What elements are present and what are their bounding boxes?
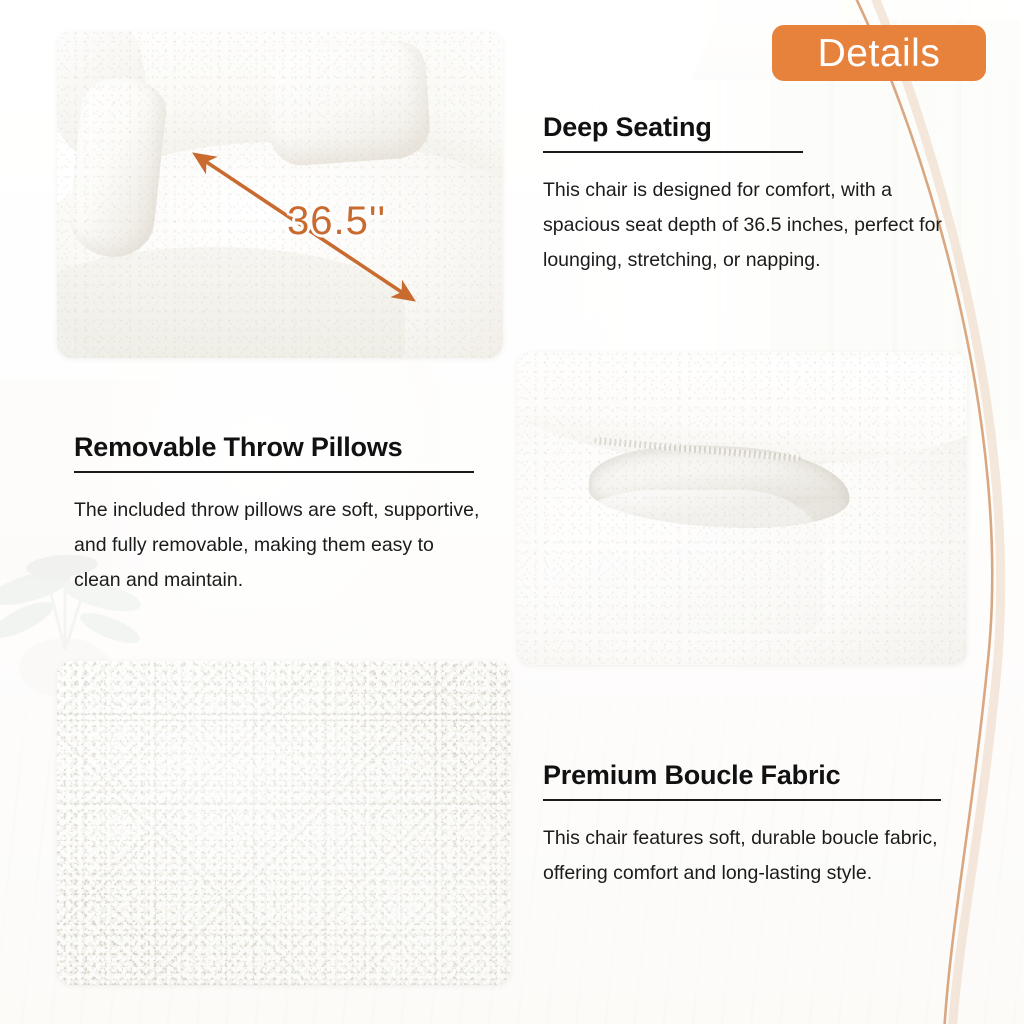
- heading-underline: [543, 799, 941, 801]
- section-heading-deep-seating: Deep Seating: [543, 112, 968, 143]
- section-heading-removable-throw-pillows: Removable Throw Pillows: [74, 432, 484, 463]
- section-premium-boucle-fabric: Premium Boucle Fabric This chair feature…: [543, 760, 953, 891]
- pillow-zipper-photo: [517, 352, 967, 665]
- photo-card-deep-seating: 36.5'': [57, 31, 503, 358]
- section-heading-premium-boucle-fabric: Premium Boucle Fabric: [543, 760, 953, 791]
- heading-underline: [74, 471, 474, 473]
- photo-card-removable-pillow: [517, 352, 967, 665]
- boucle-fabric-photo: [57, 661, 511, 985]
- boucle-fabric-sheen: [57, 661, 511, 985]
- chair-seat-photo: [57, 31, 503, 358]
- pillow-fold: [544, 490, 823, 634]
- throw-pillow-lumbar: [263, 39, 431, 168]
- product-detail-page: Details 36.5'': [0, 0, 1024, 1024]
- section-body-deep-seating: This chair is designed for comfort, with…: [543, 173, 968, 278]
- photo-card-boucle-swatch: [57, 661, 511, 985]
- section-deep-seating: Deep Seating This chair is designed for …: [543, 112, 968, 278]
- section-body-premium-boucle-fabric: This chair features soft, durable boucle…: [543, 821, 953, 891]
- heading-underline: [543, 151, 803, 153]
- section-removable-throw-pillows: Removable Throw Pillows The included thr…: [74, 432, 484, 598]
- seat-depth-label: 36.5'': [287, 199, 386, 244]
- section-body-removable-throw-pillows: The included throw pillows are soft, sup…: [74, 493, 484, 598]
- details-badge: Details: [772, 25, 986, 81]
